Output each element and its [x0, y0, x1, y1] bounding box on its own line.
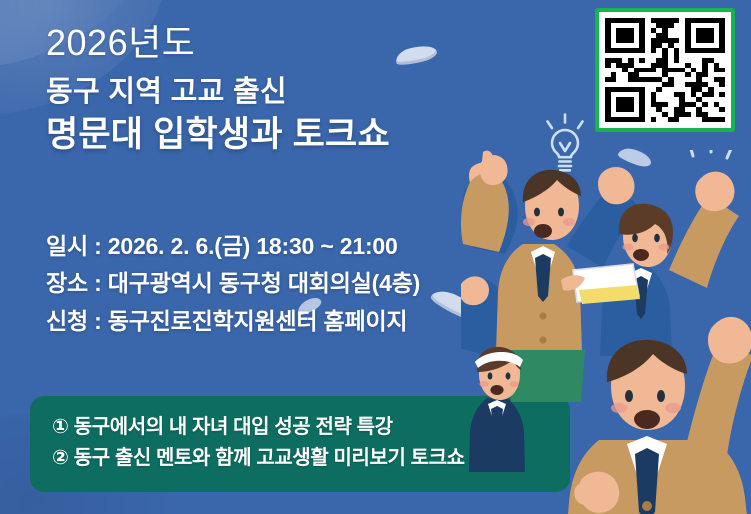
qr-code-modules: [605, 18, 725, 122]
qr-code[interactable]: [595, 8, 735, 132]
poster-year: 2026년도: [46, 22, 516, 63]
event-info-block: 일시 : 2026. 2. 6.(금) 18:30 ~ 21:00 장소 : 대…: [46, 228, 516, 340]
event-datetime: 일시 : 2026. 2. 6.(금) 18:30 ~ 21:00: [46, 228, 516, 265]
program-item-1: ① 동구에서의 내 자녀 대입 성공 전략 특강: [52, 412, 548, 443]
event-registration: 신청 : 동구진로진학지원센터 홈페이지: [46, 303, 516, 340]
event-venue: 장소 : 대구광역시 동구청 대회의실(4층): [46, 265, 516, 302]
program-list-box: ① 동구에서의 내 자녀 대입 성공 전략 특강 ② 동구 출신 멘토와 함께 …: [30, 396, 570, 492]
floating-paper-icon: [617, 145, 654, 169]
page-title: 명문대 입학생과 토크쇼: [46, 114, 516, 157]
poster-subtitle: 동구 지역 고교 출신: [46, 75, 516, 110]
program-item-2: ② 동구 출신 멘토와 함께 고교생활 미리보기 토크쇼: [52, 443, 548, 474]
qr-code-canvas: [599, 12, 731, 128]
lightbulb-icon: [534, 112, 596, 184]
headline-block: 2026년도 동구 지역 고교 출신 명문대 입학생과 토크쇼: [46, 22, 516, 157]
event-poster: 2026년도 동구 지역 고교 출신 명문대 입학생과 토크쇼 일시 : 202…: [0, 0, 751, 514]
